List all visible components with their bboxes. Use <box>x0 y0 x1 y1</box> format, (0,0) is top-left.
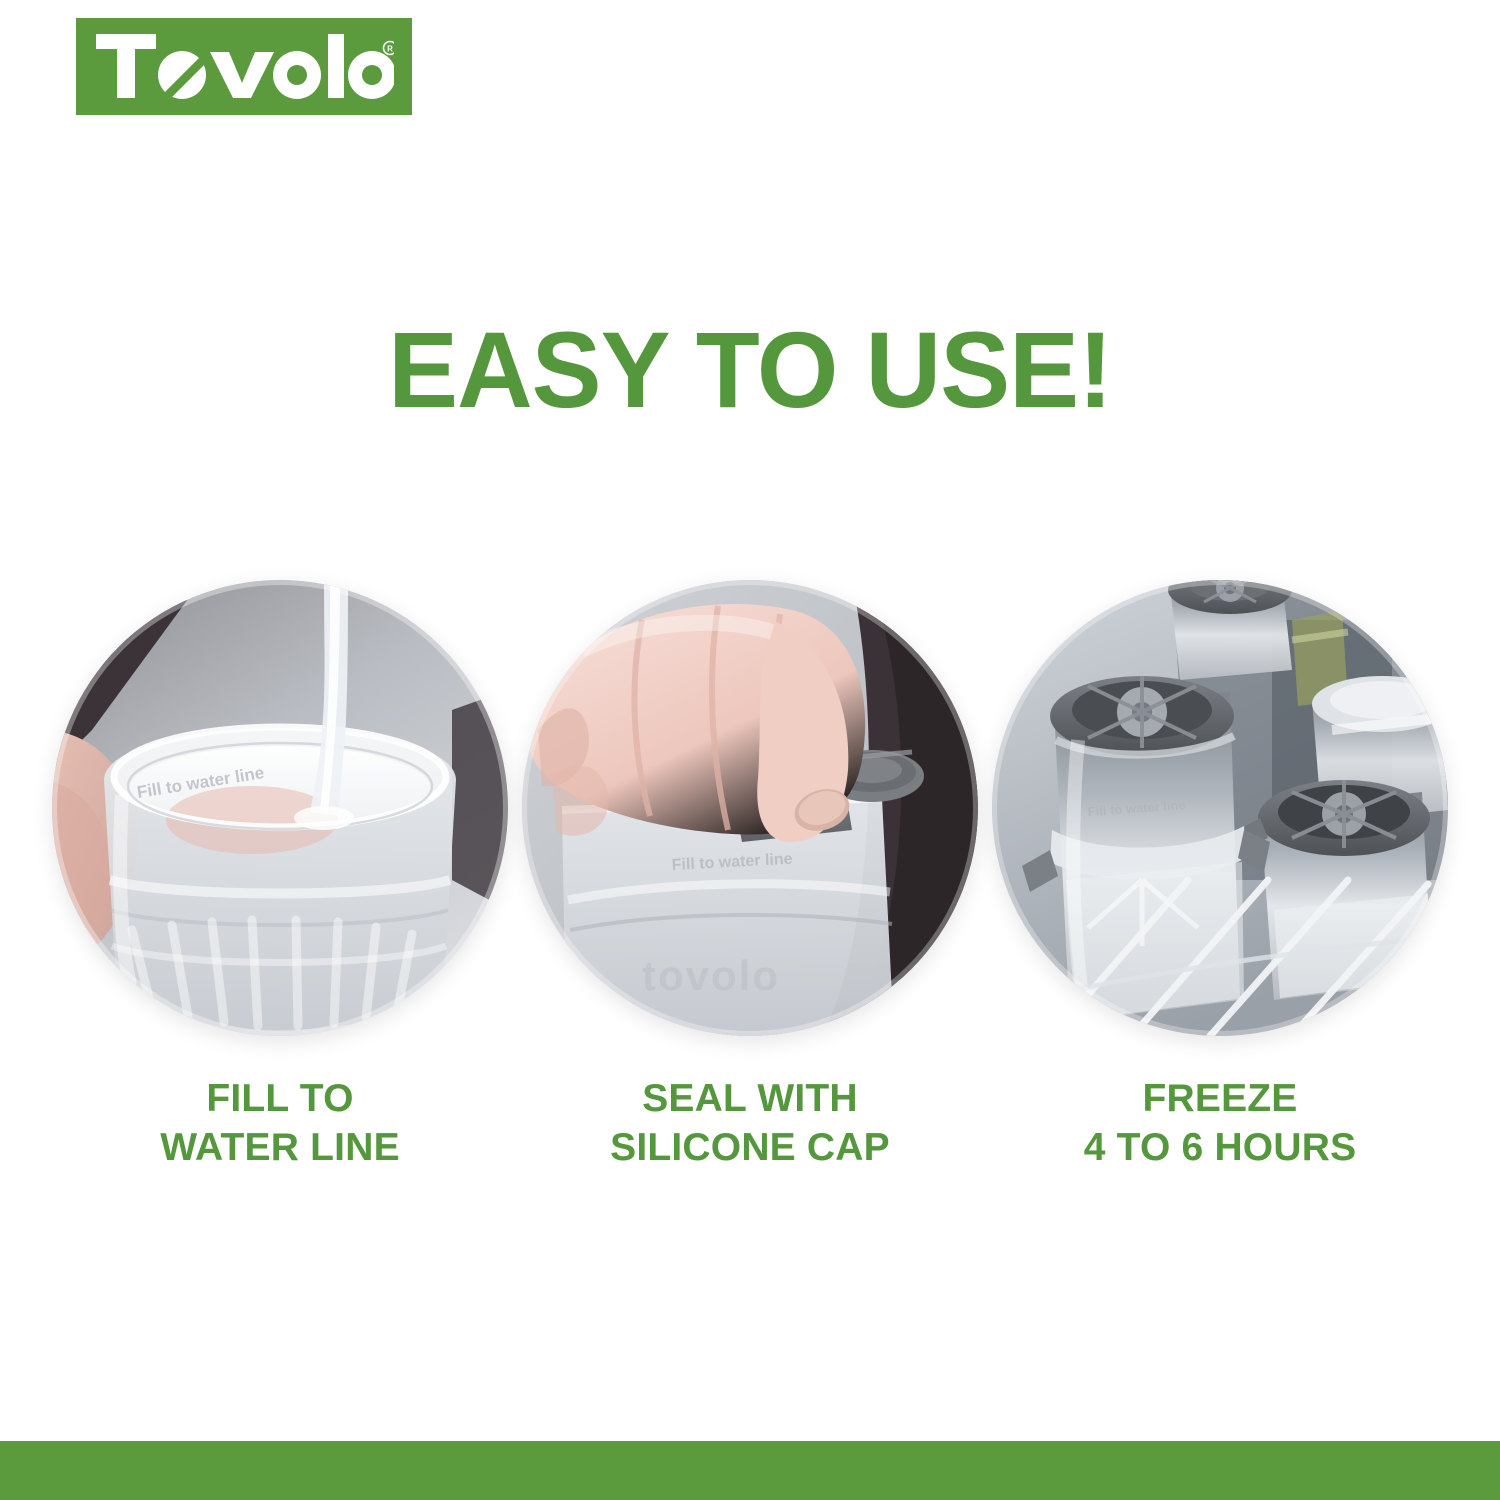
step-caption: FREEZE 4 TO 6 HOURS <box>1084 1074 1357 1172</box>
step-freeze: Fill to water line <box>985 580 1455 1172</box>
step-seal: Fill to water line tovolo <box>515 580 985 1172</box>
caption-line-2: WATER LINE <box>160 1123 400 1172</box>
brand-logo-box: R <box>76 18 412 115</box>
pressing-silicone-cap-photo: Fill to water line tovolo <box>522 580 978 1036</box>
molds-on-freezer-rack-photo: Fill to water line <box>992 580 1448 1036</box>
caption-line-1: FILL TO <box>160 1074 400 1123</box>
svg-text:R: R <box>387 44 393 53</box>
step-caption: FILL TO WATER LINE <box>160 1074 400 1172</box>
step-caption: SEAL WITH SILICONE CAP <box>610 1074 890 1172</box>
green-footer-bar <box>0 1441 1500 1500</box>
caption-line-2: 4 TO 6 HOURS <box>1084 1123 1357 1172</box>
page-title: EASY TO USE! <box>23 316 1478 424</box>
tovolo-wordmark-icon: R <box>94 32 394 102</box>
step-fill: Fill to water line <box>45 580 515 1172</box>
svg-text:tovolo: tovolo <box>642 952 780 999</box>
ice-mold-filling-with-water-photo: Fill to water line <box>52 580 508 1036</box>
steps-row: Fill to water line <box>0 580 1500 1172</box>
infographic-page: R EASY TO USE! <box>0 0 1500 1500</box>
caption-line-1: SEAL WITH <box>610 1074 890 1123</box>
caption-line-1: FREEZE <box>1084 1074 1357 1123</box>
caption-line-2: SILICONE CAP <box>610 1123 890 1172</box>
